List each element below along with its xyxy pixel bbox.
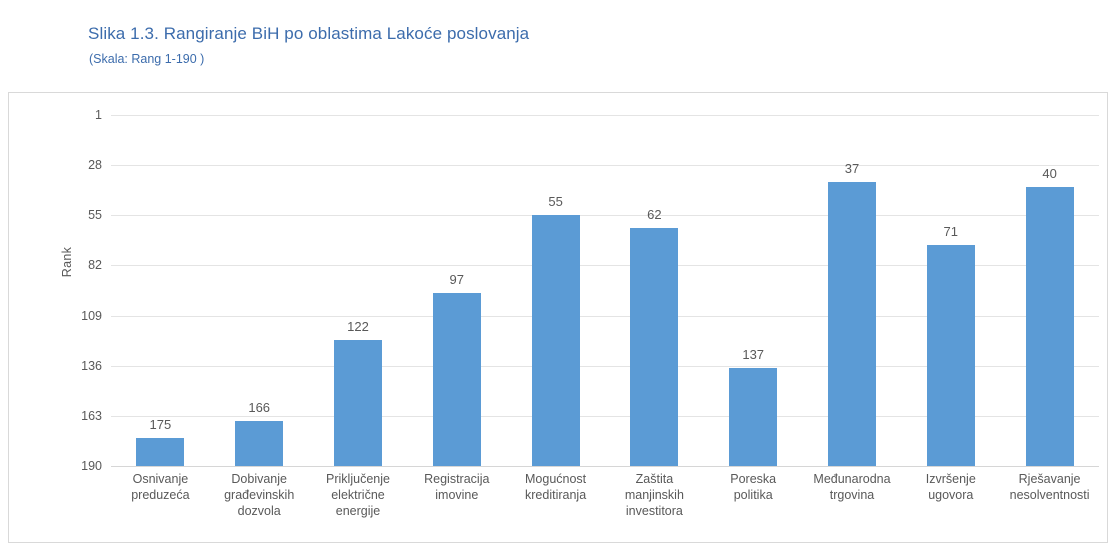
y-axis-tick-label: 136 bbox=[81, 359, 102, 373]
x-axis-category-label: Rješavanjenesolventnosti bbox=[1000, 471, 1099, 503]
category-label-line: trgovina bbox=[803, 487, 902, 503]
bar-group[interactable]: 166 bbox=[210, 115, 309, 466]
bar-value-label: 175 bbox=[150, 417, 172, 432]
bar-value-label: 97 bbox=[450, 272, 464, 287]
x-axis-category-label: Osnivanjepreduzeća bbox=[111, 471, 210, 503]
category-label-line: Izvršenje bbox=[901, 471, 1000, 487]
gridline: 190 bbox=[111, 466, 1099, 467]
x-axis-category-label: Priključenjeelektričneenergije bbox=[309, 471, 408, 519]
category-label-line: Mogućnost bbox=[506, 471, 605, 487]
bar-group[interactable]: 40 bbox=[1000, 115, 1099, 466]
bar[interactable] bbox=[729, 368, 777, 466]
category-label-line: preduzeća bbox=[111, 487, 210, 503]
bar-value-label: 166 bbox=[248, 400, 270, 415]
y-axis-tick-label: 28 bbox=[88, 158, 102, 172]
x-axis-category-label: Dobivanjegrađevinskihdozvola bbox=[210, 471, 309, 519]
bar-value-label: 137 bbox=[742, 347, 764, 362]
bar-value-label: 71 bbox=[944, 224, 958, 239]
bar-group[interactable]: 122 bbox=[309, 115, 408, 466]
category-label-line: Međunarodna bbox=[803, 471, 902, 487]
category-label-line: Poreska bbox=[704, 471, 803, 487]
x-axis-category-label: Izvršenjeugovora bbox=[901, 471, 1000, 503]
x-axis-category-label: Međunarodnatrgovina bbox=[803, 471, 902, 503]
x-axis-categories: OsnivanjepreduzećaDobivanjegrađevinskihd… bbox=[111, 471, 1099, 537]
bar-value-label: 55 bbox=[548, 194, 562, 209]
bar-group[interactable]: 97 bbox=[407, 115, 506, 466]
bar[interactable] bbox=[334, 340, 382, 466]
category-label-line: kreditiranja bbox=[506, 487, 605, 503]
category-label-line: energije bbox=[309, 503, 408, 519]
bar[interactable] bbox=[828, 182, 876, 466]
x-axis-category-label: Registracijaimovine bbox=[407, 471, 506, 503]
bar[interactable] bbox=[433, 293, 481, 466]
bars-layer: 175166122975562137377140 bbox=[111, 115, 1099, 466]
bar-value-label: 62 bbox=[647, 207, 661, 222]
y-axis-tick-label: 82 bbox=[88, 258, 102, 272]
category-label-line: imovine bbox=[407, 487, 506, 503]
category-label-line: politika bbox=[704, 487, 803, 503]
figure-title: Slika 1.3. Rangiranje BiH po oblastima L… bbox=[88, 24, 529, 44]
category-label-line: dozvola bbox=[210, 503, 309, 519]
bar[interactable] bbox=[1026, 187, 1074, 466]
y-axis-tick-label: 109 bbox=[81, 309, 102, 323]
x-axis-category-label: Zaštitamanjinskihinvestitora bbox=[605, 471, 704, 519]
category-label-line: Priključenje bbox=[309, 471, 408, 487]
category-label-line: Osnivanje bbox=[111, 471, 210, 487]
category-label-line: ugovora bbox=[901, 487, 1000, 503]
x-axis-category-label: Mogućnostkreditiranja bbox=[506, 471, 605, 503]
category-label-line: investitora bbox=[605, 503, 704, 519]
plot-area: 1285582109136163190 17516612297556213737… bbox=[111, 115, 1099, 466]
bar-group[interactable]: 37 bbox=[803, 115, 902, 466]
bar-value-label: 37 bbox=[845, 161, 859, 176]
bar[interactable] bbox=[136, 438, 184, 466]
bar-group[interactable]: 175 bbox=[111, 115, 210, 466]
bar-value-label: 122 bbox=[347, 319, 369, 334]
category-label-line: Zaštita bbox=[605, 471, 704, 487]
bar-group[interactable]: 137 bbox=[704, 115, 803, 466]
bar-group[interactable]: 71 bbox=[901, 115, 1000, 466]
chart-frame: Rank 1285582109136163190 175166122975562… bbox=[8, 92, 1108, 543]
bar-group[interactable]: 62 bbox=[605, 115, 704, 466]
bar-group[interactable]: 55 bbox=[506, 115, 605, 466]
category-label-line: građevinskih bbox=[210, 487, 309, 503]
category-label-line: manjinskih bbox=[605, 487, 704, 503]
y-axis-tick-label: 163 bbox=[81, 409, 102, 423]
bar[interactable] bbox=[630, 228, 678, 466]
category-label-line: nesolventnosti bbox=[1000, 487, 1099, 503]
y-axis-tick-label: 1 bbox=[95, 108, 102, 122]
y-axis-tick-label: 190 bbox=[81, 459, 102, 473]
category-label-line: Registracija bbox=[407, 471, 506, 487]
figure-subtitle: (Skala: Rang 1-190 ) bbox=[89, 52, 204, 66]
category-label-line: Rješavanje bbox=[1000, 471, 1099, 487]
y-axis-tick-label: 55 bbox=[88, 208, 102, 222]
y-axis-title: Rank bbox=[60, 202, 74, 322]
category-label-line: Dobivanje bbox=[210, 471, 309, 487]
bar[interactable] bbox=[927, 245, 975, 466]
bar[interactable] bbox=[235, 421, 283, 466]
x-axis-category-label: Poreskapolitika bbox=[704, 471, 803, 503]
bar[interactable] bbox=[532, 215, 580, 466]
category-label-line: električne bbox=[309, 487, 408, 503]
bar-value-label: 40 bbox=[1042, 166, 1056, 181]
